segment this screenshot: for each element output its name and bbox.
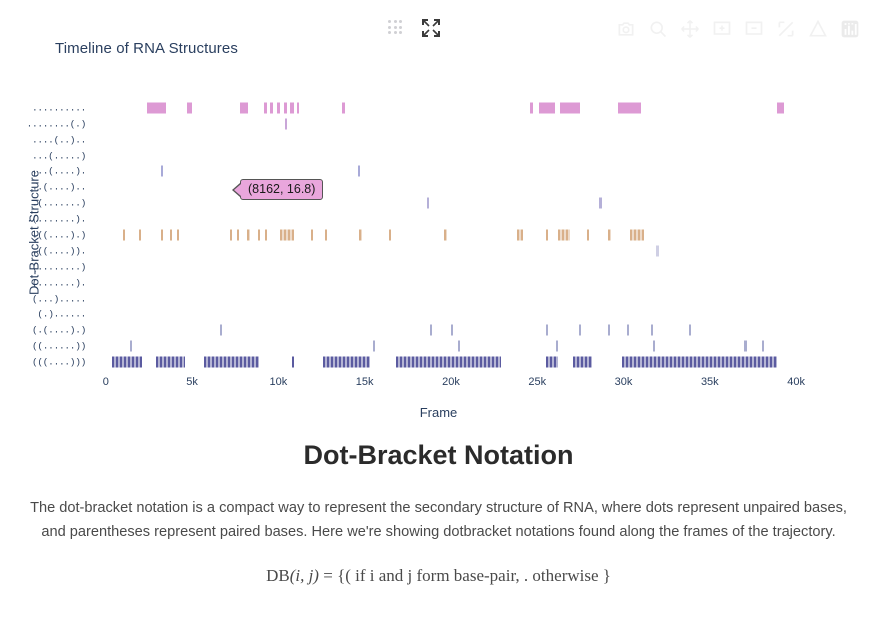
data-mark[interactable]: [220, 325, 222, 336]
y-tick-label: ....(..)..: [0, 135, 86, 145]
y-tick-label: ...(.....): [0, 151, 86, 161]
timeline-chart[interactable]: Dot-Bracket Structure ..................…: [0, 70, 877, 425]
data-mark[interactable]: [608, 325, 610, 336]
data-mark[interactable]: [630, 230, 644, 241]
y-tick-label: .(.......): [0, 198, 86, 208]
data-mark[interactable]: [292, 357, 294, 368]
data-mark[interactable]: [264, 102, 267, 113]
formula-rhs: {( if i and j form base-pair, . otherwis…: [337, 566, 611, 585]
data-mark[interactable]: [560, 102, 581, 113]
data-mark[interactable]: [396, 357, 501, 368]
y-tick-label: (((....))): [0, 357, 86, 367]
formula: DB(i, j) = {( if i and j form base-pair,…: [0, 566, 877, 586]
data-mark[interactable]: [546, 325, 548, 336]
data-mark[interactable]: [546, 357, 558, 368]
zoom-in-icon[interactable]: [709, 16, 735, 42]
page-title: Timeline of RNA Structures: [55, 40, 238, 57]
data-mark[interactable]: [359, 230, 361, 241]
data-mark[interactable]: [358, 166, 360, 177]
camera-icon[interactable]: [613, 16, 639, 42]
data-mark[interactable]: [156, 357, 185, 368]
y-axis-ticks: ..................(.)....(..).....(.....…: [0, 70, 86, 370]
expand-fullscreen-icon[interactable]: [422, 19, 440, 37]
data-mark[interactable]: [689, 325, 691, 336]
data-mark[interactable]: [177, 230, 179, 241]
data-mark[interactable]: [247, 230, 249, 241]
x-tick-label: 20k: [442, 376, 460, 388]
data-mark[interactable]: [284, 102, 287, 113]
x-tick-label: 5k: [186, 376, 198, 388]
data-mark[interactable]: [342, 102, 345, 113]
formula-lhs: DB: [266, 566, 290, 585]
grid-dots-icon[interactable]: [388, 20, 404, 36]
plot-canvas[interactable]: [92, 100, 822, 370]
y-tick-label: .((....).): [0, 230, 86, 240]
data-mark[interactable]: [123, 230, 125, 241]
y-tick-label: (.......).: [0, 278, 86, 288]
plot-header: Timeline of RNA Structures: [0, 0, 877, 70]
data-mark[interactable]: [325, 230, 327, 241]
x-tick-label: 10k: [270, 376, 288, 388]
data-mark[interactable]: [130, 341, 132, 352]
y-tick-label: ...(....).: [0, 167, 86, 177]
x-tick-label: 30k: [615, 376, 633, 388]
y-tick-label: ((......)): [0, 341, 86, 351]
x-tick-label: 15k: [356, 376, 374, 388]
data-mark[interactable]: [240, 102, 249, 113]
data-mark[interactable]: [627, 325, 629, 336]
data-mark[interactable]: [599, 198, 601, 209]
autoscale-icon[interactable]: [773, 16, 799, 42]
data-mark[interactable]: [147, 102, 166, 113]
y-tick-label: ........(.): [0, 119, 86, 129]
zoom-out-icon[interactable]: [741, 16, 767, 42]
y-tick-label: ..........: [0, 103, 86, 113]
data-mark[interactable]: [451, 325, 453, 336]
data-mark[interactable]: [573, 357, 592, 368]
pan-icon[interactable]: [677, 16, 703, 42]
data-mark[interactable]: [139, 230, 141, 241]
y-tick-label: (.)......: [0, 310, 86, 320]
section-paragraph: The dot-bracket notation is a compact wa…: [16, 497, 861, 544]
data-mark[interactable]: [230, 230, 232, 241]
data-mark[interactable]: [270, 102, 273, 113]
data-mark[interactable]: [187, 102, 192, 113]
data-mark[interactable]: [290, 102, 293, 113]
reset-axes-icon[interactable]: [805, 16, 831, 42]
data-mark[interactable]: [427, 198, 429, 209]
data-mark[interactable]: [112, 357, 142, 368]
data-mark[interactable]: [744, 341, 746, 352]
data-mark[interactable]: [618, 102, 640, 113]
data-mark[interactable]: [762, 341, 764, 352]
data-mark[interactable]: [161, 230, 163, 241]
data-mark[interactable]: [170, 230, 172, 241]
data-mark[interactable]: [389, 230, 391, 241]
y-tick-label: .((....)).: [0, 246, 86, 256]
data-mark[interactable]: [622, 357, 777, 368]
data-mark[interactable]: [444, 230, 447, 241]
data-mark[interactable]: [280, 230, 294, 241]
y-tick-label: ..(....)..: [0, 183, 86, 193]
section-heading: Dot-Bracket Notation: [0, 440, 877, 471]
data-mark[interactable]: [608, 230, 611, 241]
data-mark[interactable]: [161, 166, 163, 177]
data-mark[interactable]: [546, 230, 548, 241]
data-mark[interactable]: [311, 230, 313, 241]
formula-args: (i, j): [290, 566, 319, 585]
x-tick-label: 0: [103, 376, 109, 388]
notation-section: Dot-Bracket Notation The dot-bracket not…: [0, 440, 877, 586]
plotly-modebar[interactable]: [613, 14, 863, 44]
x-tick-label: 35k: [701, 376, 719, 388]
data-mark[interactable]: [237, 230, 239, 241]
x-tick-label: 40k: [787, 376, 805, 388]
zoom-icon[interactable]: [645, 16, 671, 42]
y-tick-label: (...).....: [0, 294, 86, 304]
data-mark[interactable]: [265, 230, 267, 241]
data-mark[interactable]: [653, 341, 655, 352]
data-mark[interactable]: [517, 230, 524, 241]
data-mark[interactable]: [204, 357, 259, 368]
data-mark[interactable]: [530, 102, 533, 113]
formula-eq: =: [323, 566, 333, 585]
data-mark[interactable]: [297, 102, 300, 113]
data-mark[interactable]: [587, 230, 589, 241]
data-mark[interactable]: [285, 118, 287, 129]
data-mark[interactable]: [539, 102, 555, 113]
data-mark[interactable]: [656, 245, 658, 256]
data-mark[interactable]: [458, 341, 460, 352]
data-mark[interactable]: [651, 325, 653, 336]
page-root: Timeline of RNA Structures Dot-Bracket S…: [0, 0, 877, 628]
hover-tooltip: (8162, 16.8): [240, 179, 323, 200]
data-mark[interactable]: [323, 357, 370, 368]
y-tick-label: .(.......).: [0, 214, 86, 224]
data-mark[interactable]: [373, 341, 375, 352]
y-tick-label: (.(....).): [0, 326, 86, 336]
plotly-logo-icon[interactable]: [837, 16, 863, 42]
data-mark[interactable]: [558, 230, 570, 241]
data-mark[interactable]: [777, 102, 784, 113]
x-axis-title: Frame: [0, 405, 877, 420]
data-mark[interactable]: [277, 102, 280, 113]
data-mark[interactable]: [430, 325, 432, 336]
data-mark[interactable]: [258, 230, 260, 241]
data-mark[interactable]: [556, 341, 558, 352]
x-tick-label: 25k: [528, 376, 546, 388]
y-tick-label: (........): [0, 262, 86, 272]
data-mark[interactable]: [579, 325, 581, 336]
